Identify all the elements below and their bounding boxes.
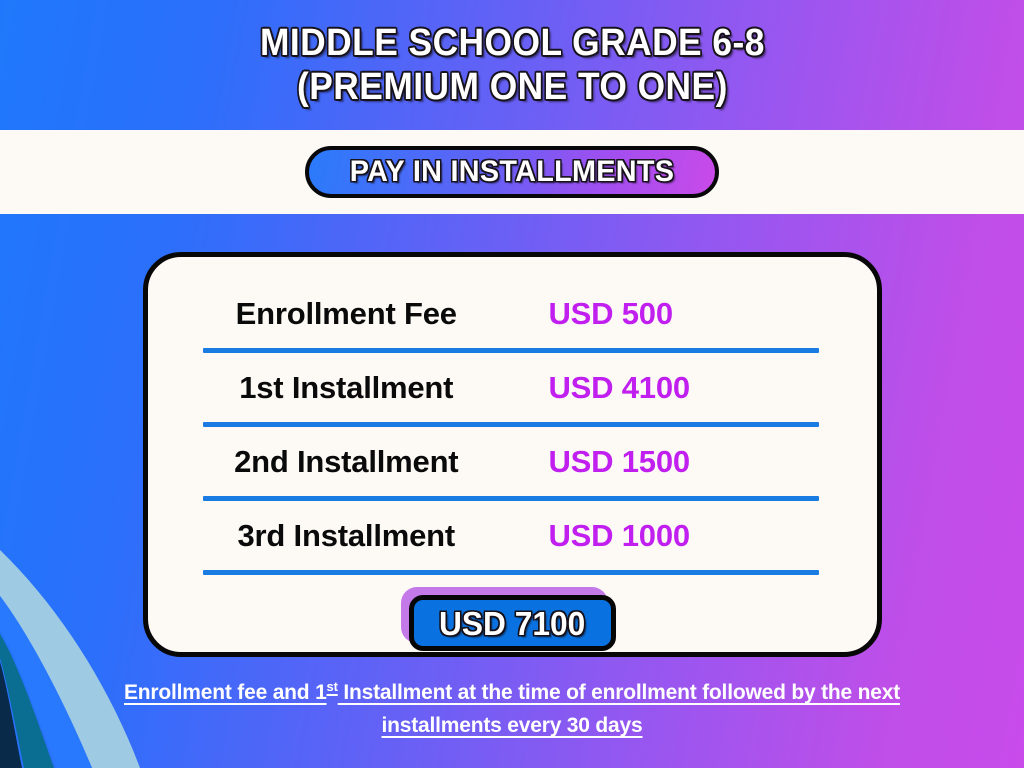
- fee-label: 1st Installment: [148, 353, 513, 422]
- page-title-line2: (PREMIUM ONE TO ONE): [260, 65, 765, 109]
- swoosh-band-navy: [0, 662, 22, 768]
- fee-value: USD 4100: [513, 353, 878, 422]
- table-row: 3rd Installment USD 1000: [148, 501, 877, 570]
- pricing-poster: MIDDLE SCHOOL GRADE 6-8 (PREMIUM ONE TO …: [0, 0, 1024, 768]
- swoosh-band-teal: [0, 634, 54, 768]
- fee-table-body: Enrollment Fee USD 500 1st Installment U…: [148, 279, 877, 575]
- row-divider-cell: [148, 570, 877, 575]
- ribbon-band: PAY IN INSTALLMENTS: [0, 130, 1024, 214]
- divider-line: [203, 570, 819, 575]
- fee-value: USD 500: [513, 279, 878, 348]
- fee-table: Enrollment Fee USD 500 1st Installment U…: [148, 279, 877, 575]
- price-card: Enrollment Fee USD 500 1st Installment U…: [143, 252, 882, 657]
- row-divider: [148, 570, 877, 575]
- footer-note-part2: Installment at the time of enrollment fo…: [338, 681, 900, 737]
- footer-note-part1: Enrollment fee and 1: [124, 681, 327, 704]
- fee-value: USD 1500: [513, 427, 878, 496]
- header-band: MIDDLE SCHOOL GRADE 6-8 (PREMIUM ONE TO …: [0, 0, 1024, 130]
- table-row: Enrollment Fee USD 500: [148, 279, 877, 348]
- page-title-line1: MIDDLE SCHOOL GRADE 6-8: [260, 22, 765, 64]
- fee-label: Enrollment Fee: [148, 279, 513, 348]
- total-badge[interactable]: USD 7100: [409, 595, 615, 651]
- footer-note: Enrollment fee and 1st Installment at th…: [62, 676, 962, 742]
- footer-note-ordinal: st: [327, 679, 338, 694]
- fee-label: 2nd Installment: [148, 427, 513, 496]
- page-title: MIDDLE SCHOOL GRADE 6-8 (PREMIUM ONE TO …: [260, 21, 765, 109]
- table-row: 1st Installment USD 4100: [148, 353, 877, 422]
- pay-in-installments-label: PAY IN INSTALLMENTS: [350, 157, 674, 187]
- total-amount-label: USD 7100: [439, 607, 585, 640]
- total-row: USD 7100: [148, 595, 877, 651]
- fee-value: USD 1000: [513, 501, 878, 570]
- table-row: 2nd Installment USD 1500: [148, 427, 877, 496]
- total-badge-box: USD 7100: [409, 595, 615, 651]
- fee-label: 3rd Installment: [148, 501, 513, 570]
- pay-in-installments-pill[interactable]: PAY IN INSTALLMENTS: [305, 146, 719, 198]
